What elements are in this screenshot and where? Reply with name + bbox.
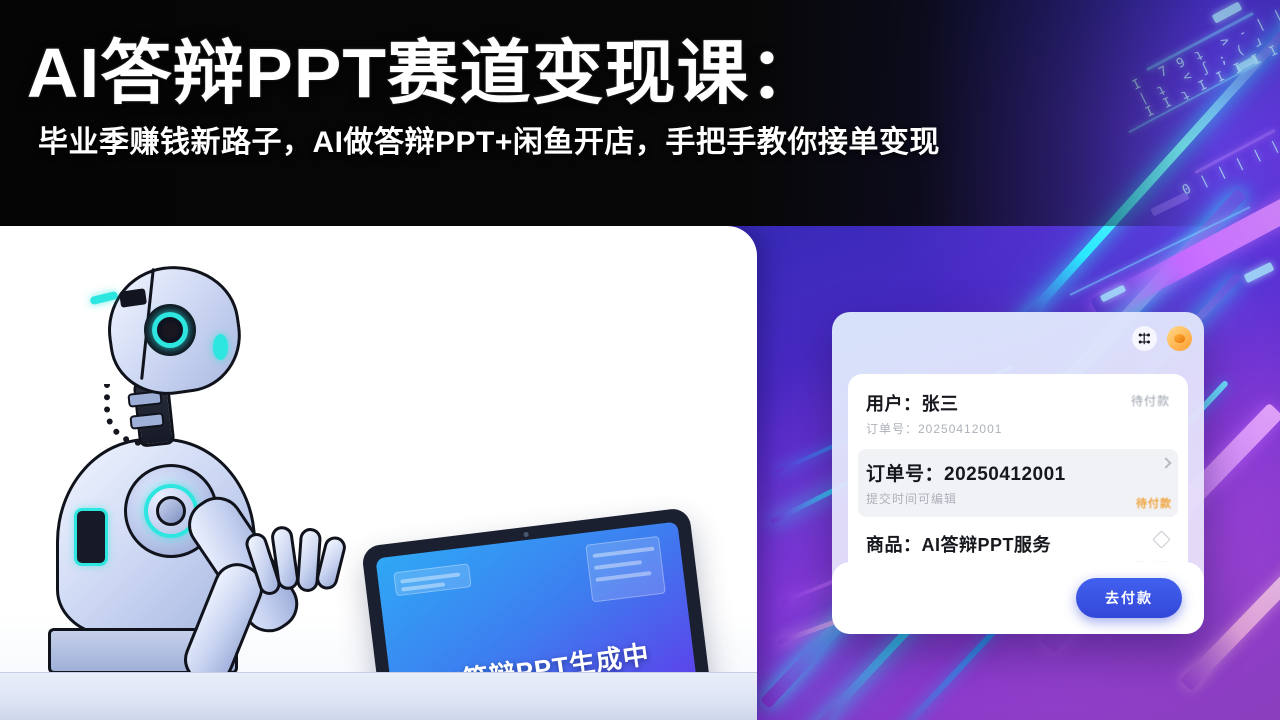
page-subtitle: 毕业季赚钱新路子，AI做答辩PPT+闲鱼开店，手把手教你接单变现 [38, 124, 1158, 162]
pay-button[interactable]: 去付款 [1076, 578, 1182, 618]
order-card-footer: 去付款 [832, 562, 1204, 634]
illustration-panel: AI答辩PPT生成中 查看进度 [0, 226, 757, 720]
order-product-label: 商品：AI答辩PPT服务 [866, 531, 1170, 557]
robot-eye-pupil [162, 322, 178, 338]
order-card: 用户：张三 待付款 订单号：20250412001 订单号：2025041200… [832, 312, 1204, 634]
robot-shoulder-core [156, 496, 186, 526]
order-status-badge: 待付款 [1136, 495, 1172, 511]
order-row-user[interactable]: 用户：张三 待付款 订单号：20250412001 [866, 390, 1170, 437]
xianyu-fish-icon[interactable] [1167, 326, 1192, 351]
share-icon[interactable] [1132, 326, 1157, 351]
order-card-toolbar [1132, 326, 1192, 351]
desk-surface [0, 672, 757, 720]
robot-hand-upper [250, 526, 346, 610]
order-user-status: 待付款 [1131, 392, 1170, 409]
robot-illustration [28, 256, 358, 686]
order-user-subtext: 订单号：20250412001 [866, 420, 1170, 437]
order-user-label: 用户：张三 [866, 390, 1170, 416]
robot-chest-panel [74, 508, 108, 566]
page-title: AI答辩PPT赛道变现课： [27, 34, 1169, 112]
robot-ear-light [213, 334, 228, 360]
order-number-subtext: 提交时间可编辑 [866, 490, 1170, 507]
order-row-number[interactable]: 订单号：20250412001 提交时间可编辑 待付款 [858, 449, 1178, 517]
order-number-label: 订单号：20250412001 [866, 459, 1170, 486]
monitor-camera [523, 532, 529, 538]
header-band: AI答辩PPT赛道变现课： 毕业季赚钱新路子，AI做答辩PPT+闲鱼开店，手把手… [0, 0, 1280, 226]
poster-canvas: I 7 9 ʇ > - | | | ʇ < ʃ ; ( ɹ I 9 6 I I … [0, 0, 1280, 720]
order-card-body: 用户：张三 待付款 订单号：20250412001 订单号：2025041200… [848, 374, 1188, 585]
fish-glyph [1174, 334, 1185, 343]
